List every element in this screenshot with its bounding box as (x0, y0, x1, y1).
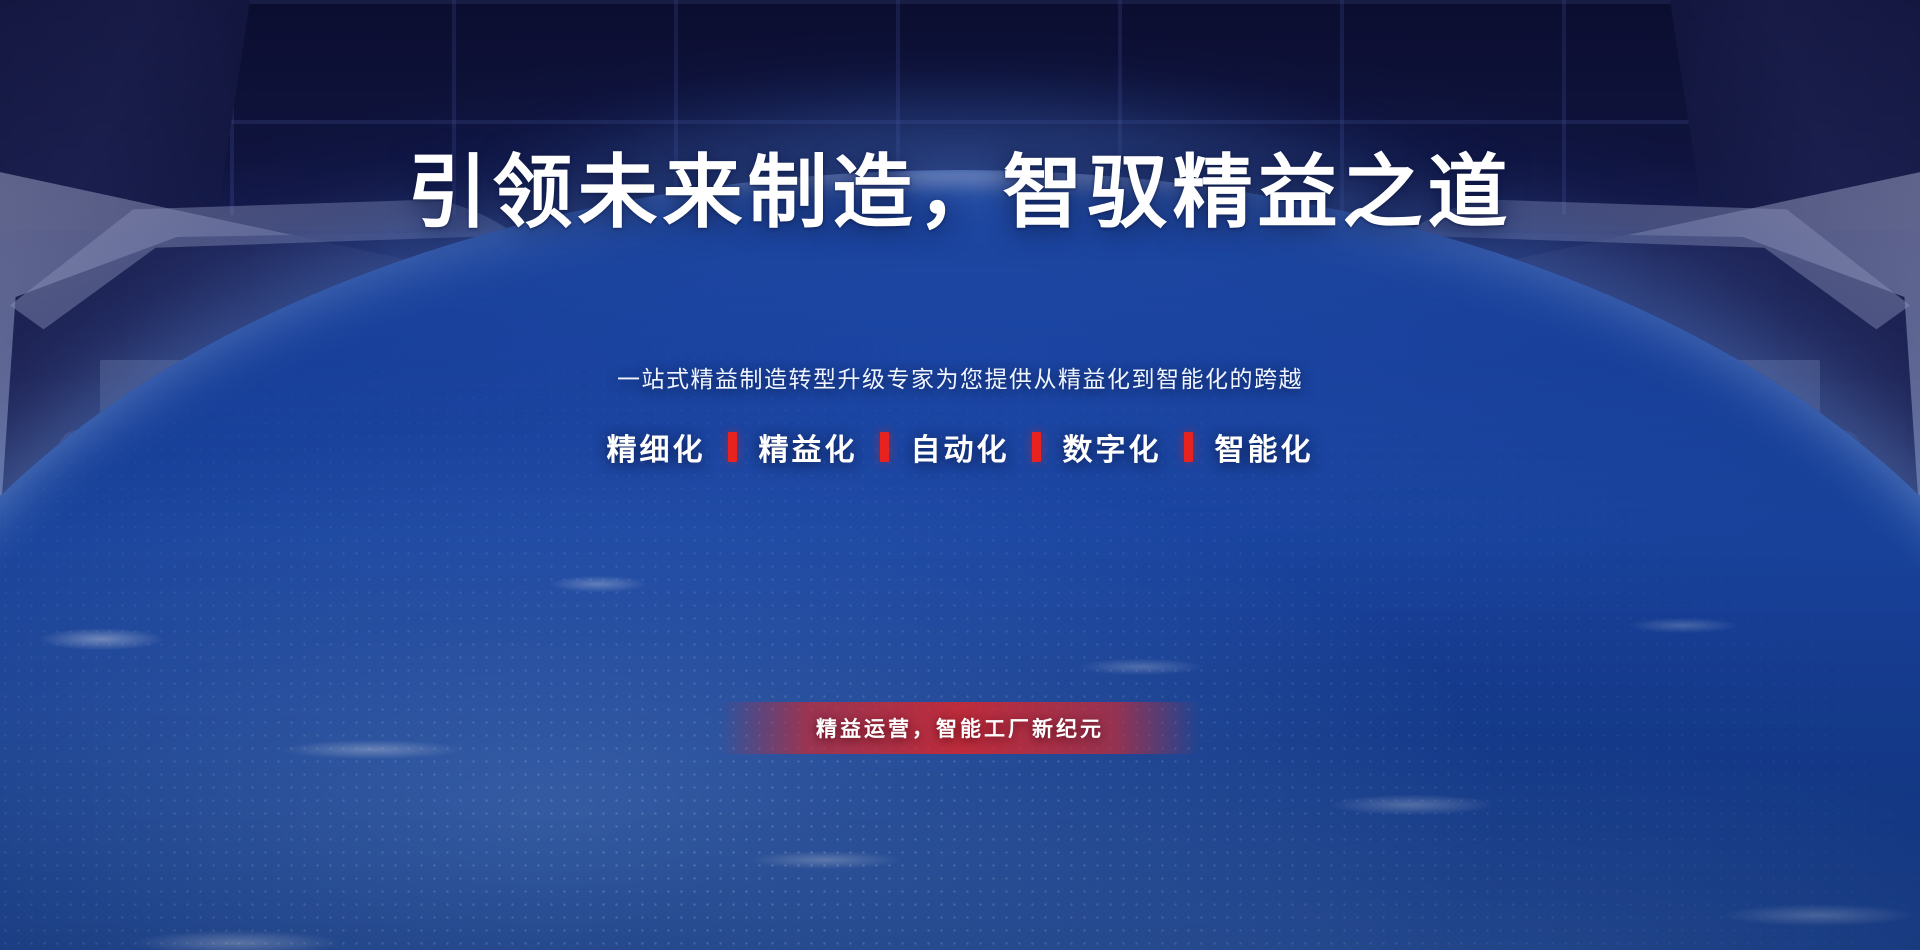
keyword-item: 数字化 (1063, 425, 1162, 469)
keyword-item: 精益化 (759, 425, 858, 469)
hero-subtitle: 一站式精益制造转型升级专家为您提供从精益化到智能化的跨越 (0, 360, 1920, 394)
keyword-item: 智能化 (1215, 425, 1314, 469)
keyword-separator-icon (880, 432, 889, 462)
keyword-item: 精细化 (607, 425, 706, 469)
tagline-badge-text: 精益运营，智能工厂新纪元 (816, 713, 1104, 743)
hero-title: 引领未来制造，智驭精益之道 (0, 128, 1920, 244)
keyword-separator-icon (728, 432, 737, 462)
tagline-badge: 精益运营，智能工厂新纪元 (720, 702, 1200, 754)
hero-banner: ENTERPRISE COURSE ENTERPRISE NEW SERVICE… (0, 0, 1920, 950)
keyword-separator-icon (1184, 432, 1193, 462)
hero-content: 引领未来制造，智驭精益之道 一站式精益制造转型升级专家为您提供从精益化到智能化的… (0, 0, 1920, 950)
keyword-item: 自动化 (911, 425, 1010, 469)
keyword-separator-icon (1032, 432, 1041, 462)
keyword-list: 精细化 精益化 自动化 数字化 智能化 (0, 425, 1920, 469)
